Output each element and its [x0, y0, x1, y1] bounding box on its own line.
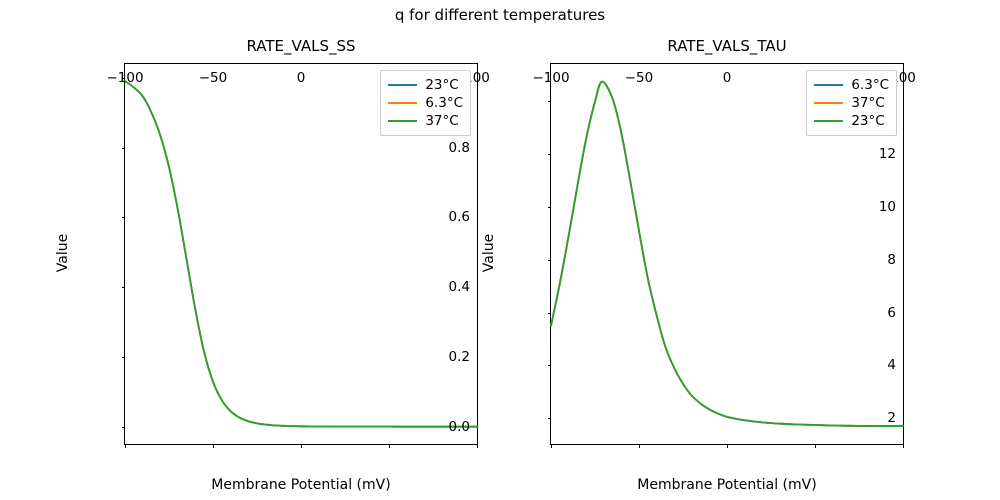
ytick-mark: [548, 418, 552, 419]
legend-entry-2[interactable]: 37°C: [814, 94, 889, 112]
ytick-mark: [122, 357, 126, 358]
ytick-mark: [548, 154, 552, 155]
xtick-label: −50: [625, 70, 654, 86]
xtick-mark: [639, 444, 640, 448]
ytick-label: 0.4: [449, 279, 470, 295]
xtick-mark: [213, 444, 214, 448]
ytick-label: 8: [887, 252, 896, 268]
legend-entry-3[interactable]: 23°C: [814, 112, 889, 130]
legend-entry-1[interactable]: 6.3°C: [814, 76, 889, 94]
ytick-label: 10: [879, 199, 896, 215]
axes-right-ylabel: Value: [481, 193, 497, 313]
ytick-mark: [122, 217, 126, 218]
xtick-mark: [551, 444, 552, 448]
legend-label: 37°C: [851, 95, 884, 111]
ytick-mark: [548, 101, 552, 102]
ytick-mark: [548, 207, 552, 208]
figure-canvas: q for different temperatures RATE_VALS_S…: [0, 0, 1000, 500]
xtick-label: 0: [723, 70, 732, 86]
ytick-label: 0.6: [449, 209, 470, 225]
legend-entry-1[interactable]: 23°C: [388, 76, 463, 94]
legend-entry-2[interactable]: 6.3°C: [388, 94, 463, 112]
legend-label: 6.3°C: [425, 95, 463, 111]
legend-label: 6.3°C: [851, 77, 889, 93]
legend-right[interactable]: 6.3°C37°C23°C: [806, 70, 897, 136]
xtick-mark: [727, 444, 728, 448]
legend-line-swatch: [814, 120, 843, 122]
xtick-label: −50: [199, 70, 228, 86]
legend-line-swatch: [388, 120, 417, 122]
axes-right-title: RATE_VALS_TAU: [551, 37, 903, 55]
ytick-label: 6: [887, 305, 896, 321]
xtick-mark: [301, 444, 302, 448]
ytick-mark: [122, 287, 126, 288]
ytick-mark: [122, 148, 126, 149]
legend-entry-3[interactable]: 37°C: [388, 112, 463, 130]
legend-line-swatch: [814, 84, 843, 86]
ytick-mark: [122, 427, 126, 428]
legend-label: 23°C: [851, 113, 884, 129]
ytick-mark: [548, 260, 552, 261]
legend-line-swatch: [388, 102, 417, 104]
xtick-mark: [815, 444, 816, 448]
axes-right-xlabel: Membrane Potential (mV): [551, 477, 903, 493]
figure-suptitle: q for different temperatures: [0, 6, 1000, 24]
axes-left-title: RATE_VALS_SS: [125, 37, 477, 55]
axes-rate-vals-ss[interactable]: RATE_VALS_SS −100−500501000.00.20.40.60.…: [124, 63, 478, 445]
ytick-label: 4: [887, 357, 896, 373]
legend-left[interactable]: 23°C6.3°C37°C: [380, 70, 471, 136]
xtick-label: 0: [297, 70, 306, 86]
ytick-label: 12: [879, 146, 896, 162]
xtick-label: −100: [532, 70, 569, 86]
ytick-mark: [122, 78, 126, 79]
xtick-mark: [389, 444, 390, 448]
axes-left-xlabel: Membrane Potential (mV): [125, 477, 477, 493]
xtick-mark: [477, 444, 478, 448]
ytick-label: 2: [887, 410, 896, 426]
xtick-label: −100: [106, 70, 143, 86]
legend-label: 23°C: [425, 77, 458, 93]
axes-rate-vals-tau[interactable]: RATE_VALS_TAU −100−500501002468101214 Me…: [550, 63, 904, 445]
legend-label: 37°C: [425, 113, 458, 129]
xtick-mark: [903, 444, 904, 448]
ytick-label: 0.2: [449, 349, 470, 365]
xtick-mark: [125, 444, 126, 448]
ytick-label: 0.0: [449, 419, 470, 435]
ytick-label: 0.8: [449, 140, 470, 156]
axes-left-ylabel: Value: [55, 193, 71, 313]
ytick-mark: [548, 365, 552, 366]
legend-line-swatch: [814, 102, 843, 104]
ytick-mark: [548, 313, 552, 314]
legend-line-swatch: [388, 84, 417, 86]
